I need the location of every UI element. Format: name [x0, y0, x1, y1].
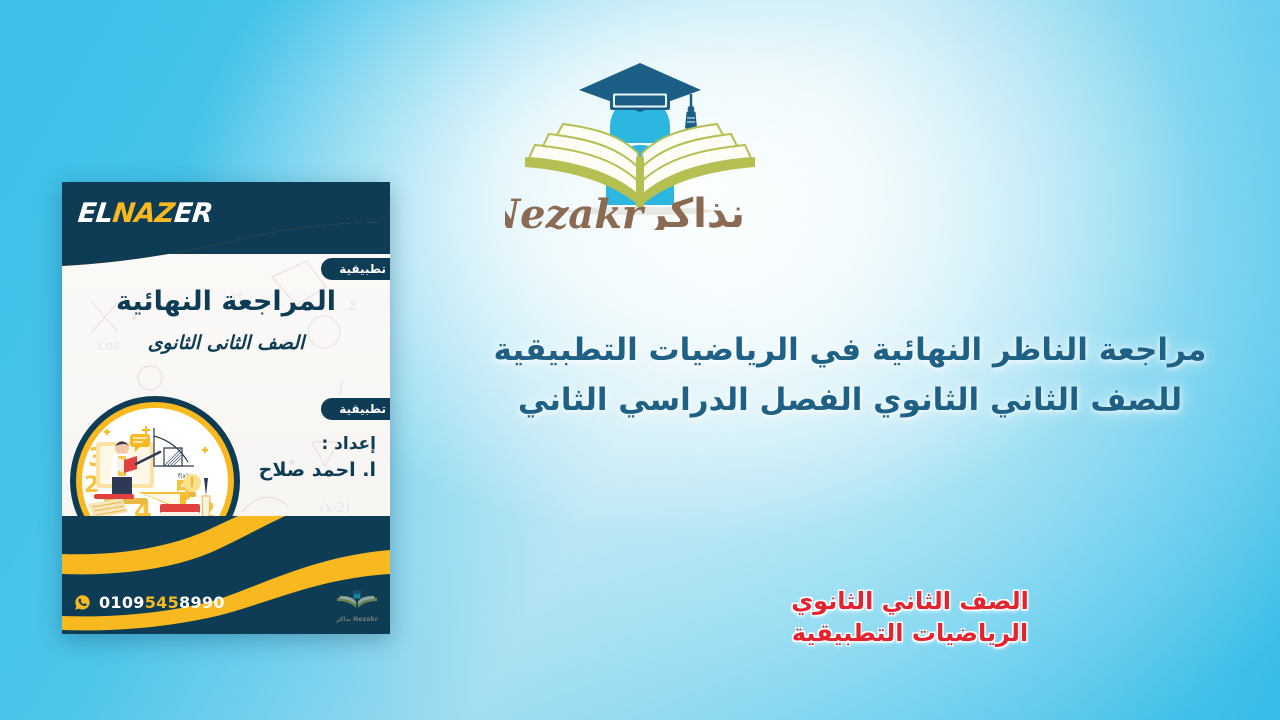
svg-text:(x-2): (x-2): [320, 501, 350, 516]
headline-line-2: للصف الثاني الثانوي الفصل الدراسي الثاني: [470, 375, 1230, 425]
prepared-label: إعداد :: [206, 432, 376, 457]
headline-line-1: مراجعة الناظر النهائية في الرياضيات التط…: [470, 325, 1230, 375]
logo-latin-text: Nezakr: [505, 191, 646, 230]
cover-phone-number: 01095458990: [99, 593, 225, 612]
svg-text:∫: ∫: [338, 381, 345, 396]
cover-brand-elnazer: ELNAZER: [76, 198, 214, 229]
watermark-icon: [334, 588, 380, 614]
brand-part-3: ER: [173, 198, 214, 229]
cover-footer-band: 01095458990 نذاكر Nezakr: [62, 516, 390, 634]
subject-grade: الصف الثاني الثانوي: [600, 585, 1220, 617]
cover-watermark-logo: نذاكر Nezakr: [334, 588, 380, 624]
brand-part-1: EL: [76, 198, 114, 229]
phone-highlight: 545: [145, 593, 179, 612]
cover-badge-top: تطبيقية: [321, 258, 390, 280]
page-title: مراجعة الناظر النهائية في الرياضيات التط…: [470, 325, 1230, 425]
subject-name: الرياضيات التطبيقية: [600, 617, 1220, 649]
cover-subtitle: الصف الثانى الثانوى: [62, 332, 390, 354]
cover-title: المراجعة النهائية: [62, 286, 390, 317]
nezakr-logo: Nezakr نذاكر: [505, 45, 775, 230]
phone-part-3: 8990: [179, 593, 225, 612]
logo-arabic-text: نذاكر: [643, 191, 745, 230]
phone-part-1: 0109: [99, 593, 145, 612]
cover-contact: 01095458990: [74, 593, 225, 612]
watermark-text: نذاكر Nezakr: [334, 616, 380, 623]
cover-badge-bottom: تطبيقية: [321, 398, 390, 420]
subject-block: الصف الثاني الثانوي الرياضيات التطبيقية: [600, 585, 1220, 649]
whatsapp-icon: [74, 594, 91, 611]
book-cover-image: x²∫ 3x7π √(x-2) 12345a+b Σcos ELNAZER تط…: [62, 182, 390, 634]
brand-highlight: NAZ: [111, 198, 176, 229]
